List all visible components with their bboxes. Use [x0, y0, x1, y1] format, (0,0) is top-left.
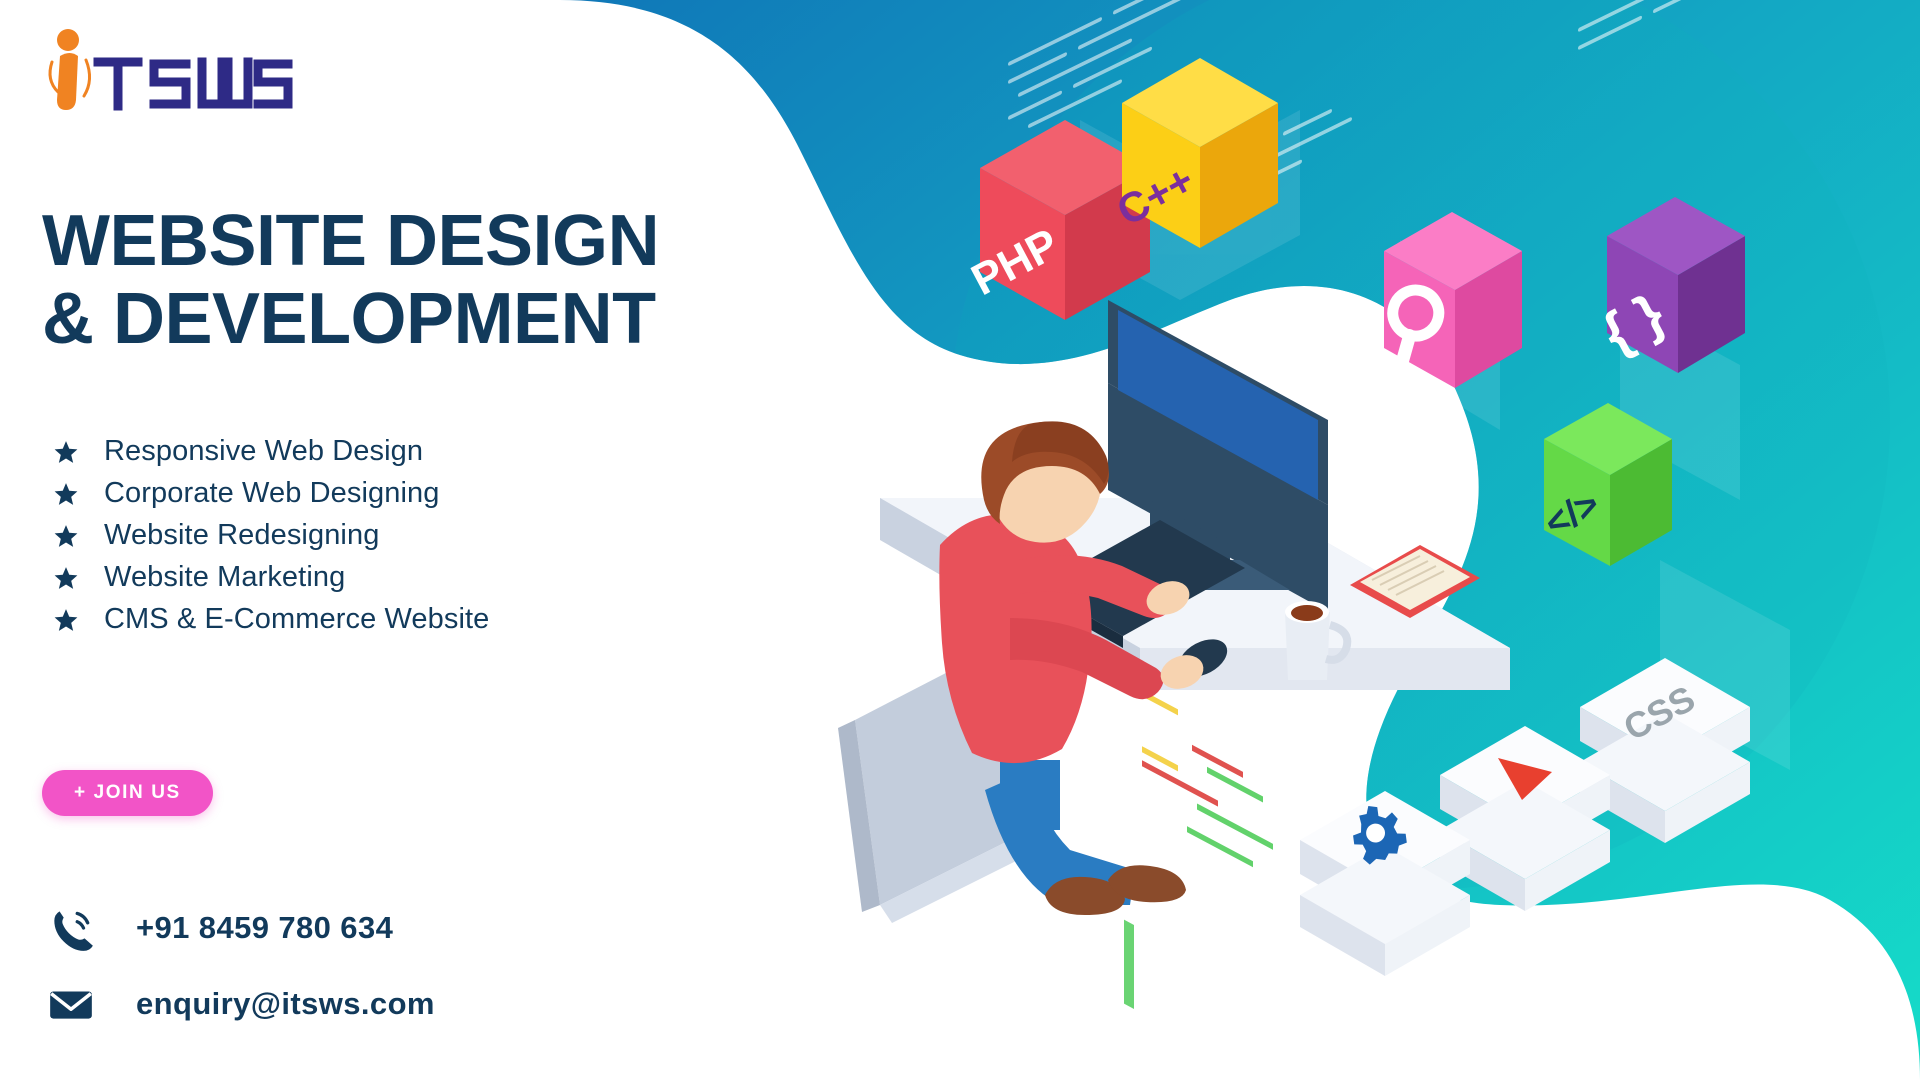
- brand-logo[interactable]: [42, 26, 322, 116]
- list-item-label: Website Marketing: [104, 561, 345, 594]
- list-item[interactable]: Website Redesigning: [50, 519, 810, 552]
- page-title: WEBSITE DESIGN & DEVELOPMENT: [42, 205, 842, 355]
- list-item[interactable]: Website Marketing: [50, 561, 810, 594]
- star-icon: [50, 604, 82, 636]
- list-item-label: CMS & E-Commerce Website: [104, 603, 489, 636]
- list-item-label: Website Redesigning: [104, 519, 379, 552]
- content-column: WEBSITE DESIGN & DEVELOPMENT Responsive …: [42, 0, 862, 1080]
- star-icon: [50, 562, 82, 594]
- star-icon: [50, 436, 82, 468]
- envelope-icon: [42, 975, 100, 1033]
- contact-block: +91 8459 780 634 enquiry@itsws.com: [42, 890, 742, 1042]
- phone-number: +91 8459 780 634: [136, 910, 393, 946]
- banner-root: PHP C++ { }: [0, 0, 1920, 1080]
- headline-line-1: WEBSITE DESIGN: [42, 201, 659, 281]
- list-item-label: Responsive Web Design: [104, 435, 423, 468]
- phone-icon: [42, 899, 100, 957]
- list-item[interactable]: CMS & E-Commerce Website: [50, 603, 810, 636]
- join-us-button[interactable]: + JOIN US: [42, 770, 213, 816]
- itsws-logo-mark: [42, 26, 322, 116]
- headline-line-2: & DEVELOPMENT: [42, 283, 842, 355]
- contact-row-email[interactable]: enquiry@itsws.com: [42, 966, 742, 1042]
- list-item-label: Corporate Web Designing: [104, 477, 439, 510]
- list-item[interactable]: Corporate Web Designing: [50, 477, 810, 510]
- service-list: Responsive Web Design Corporate Web Desi…: [50, 435, 810, 645]
- star-icon: [50, 520, 82, 552]
- star-icon: [50, 478, 82, 510]
- contact-row-phone[interactable]: +91 8459 780 634: [42, 890, 742, 966]
- bottom-wave-2: [900, 998, 1240, 1080]
- logo-dot-icon: [57, 29, 79, 51]
- bottom-wave: [1250, 947, 1710, 1080]
- list-item[interactable]: Responsive Web Design: [50, 435, 810, 468]
- email-address: enquiry@itsws.com: [136, 986, 435, 1022]
